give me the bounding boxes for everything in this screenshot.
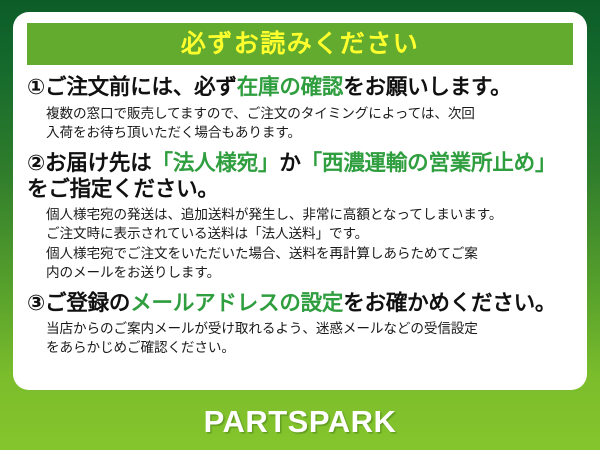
notice-card: 必ずお読みください ①ご注文前には、必ず在庫の確認をお願いします。 複数の窓口で…: [13, 12, 587, 390]
notice-item-3-heading-post: をお確かめください。: [343, 291, 556, 315]
notice-header-title: 必ずお読みください: [181, 32, 420, 57]
notice-item-3: ③ご登録のメールアドレスの設定をお確かめください。 当店からのご案内メールが受け…: [27, 291, 573, 358]
notice-item-1-heading-highlight: 在庫の確認: [237, 75, 344, 99]
notice-item-1-marker: ①: [27, 75, 45, 99]
notice-item-2-marker: ②: [27, 151, 45, 175]
notice-item-list: ①ご注文前には、必ず在庫の確認をお願いします。 複数の窓口で販売してますので、ご…: [27, 75, 573, 357]
notice-item-3-body: 当店からのご案内メールが受け取れるよう、迷惑メールなどの受信設定 をあらかじめご…: [27, 319, 573, 357]
notice-item-1-heading-pre: ご注文前には、必ず: [45, 75, 237, 99]
notice-item-2-heading-highlight-2: 「西濃運輸の営業所止め」: [301, 151, 557, 175]
notice-banner: 必ずお読みください ①ご注文前には、必ず在庫の確認をお願いします。 複数の窓口で…: [0, 0, 600, 450]
notice-item-3-heading-highlight: メールアドレスの設定: [130, 291, 343, 315]
notice-item-3-heading: ③ご登録のメールアドレスの設定をお確かめください。: [27, 291, 573, 317]
notice-footer: PARTSPARK: [0, 392, 600, 450]
notice-item-2: ②お届け先は「法人様宛」か「西濃運輸の営業所止め」をご指定ください。 個人様宅宛…: [27, 151, 573, 282]
notice-item-2-heading-post: をご指定ください。: [27, 177, 219, 201]
notice-item-2-heading-highlight: 「法人様宛」: [152, 151, 280, 175]
notice-item-3-heading-pre: ご登録の: [45, 291, 130, 315]
notice-item-1: ①ご注文前には、必ず在庫の確認をお願いします。 複数の窓口で販売してますので、ご…: [27, 75, 573, 142]
notice-item-1-heading: ①ご注文前には、必ず在庫の確認をお願いします。: [27, 75, 573, 101]
notice-header-band: 必ずお読みください: [27, 23, 573, 65]
notice-item-2-heading: ②お届け先は「法人様宛」か「西濃運輸の営業所止め」をご指定ください。: [27, 151, 573, 203]
brand-wordmark: PARTSPARK: [204, 406, 397, 437]
notice-item-1-body: 複数の窓口で販売してますので、ご注文のタイミングによっては、次回 入荷をお待ち頂…: [27, 104, 573, 142]
notice-item-2-heading-pre: お届け先は: [45, 151, 152, 175]
notice-item-2-body: 個人様宅宛の発送は、追加送料が発生し、非常に高額となってしまいます。 ご注文時に…: [27, 205, 573, 281]
notice-item-1-heading-post: をお願いします。: [343, 75, 511, 99]
notice-item-2-heading-mid: か: [279, 151, 300, 175]
notice-item-3-marker: ③: [27, 291, 45, 315]
